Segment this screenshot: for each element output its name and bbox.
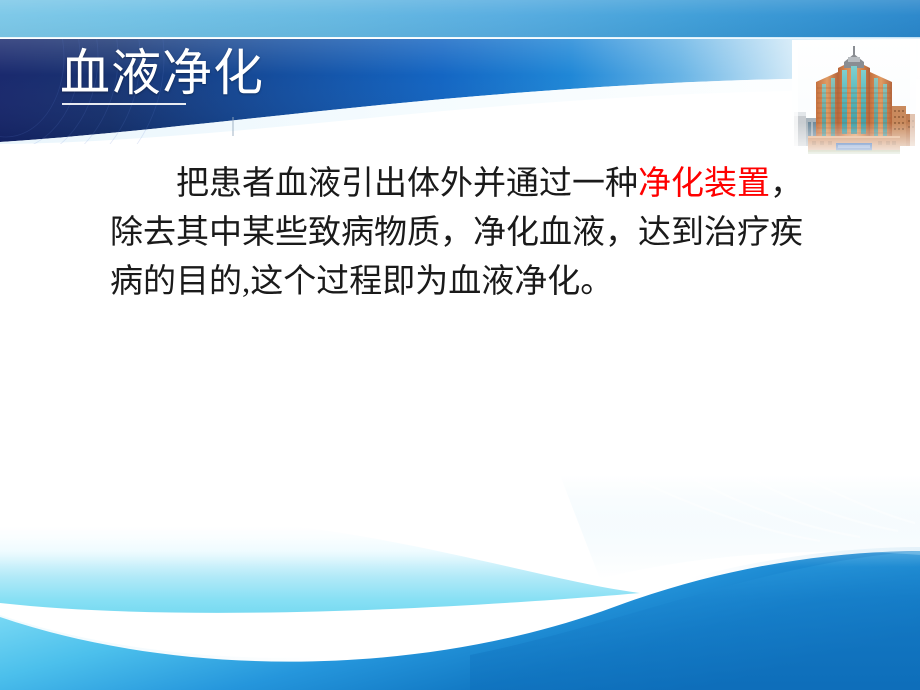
hospital-building-image <box>792 40 916 158</box>
slide-canvas: 血液净化 <box>0 0 920 690</box>
body-paragraph: 把患者血液引出体外并通过一种净化装置，除去其中某些致病物质，净化血液，达到治疗疾… <box>110 160 810 307</box>
body-text-highlight: 净化装置 <box>638 166 770 202</box>
body-text-part1: 把患者血液引出体外并通过一种 <box>176 166 638 202</box>
text-cursor-artifact <box>232 117 234 136</box>
page-title: 血液净化 <box>60 42 264 104</box>
top-band-highlight <box>0 0 920 38</box>
building-photo-icon <box>792 40 916 158</box>
title-underline <box>62 103 186 105</box>
